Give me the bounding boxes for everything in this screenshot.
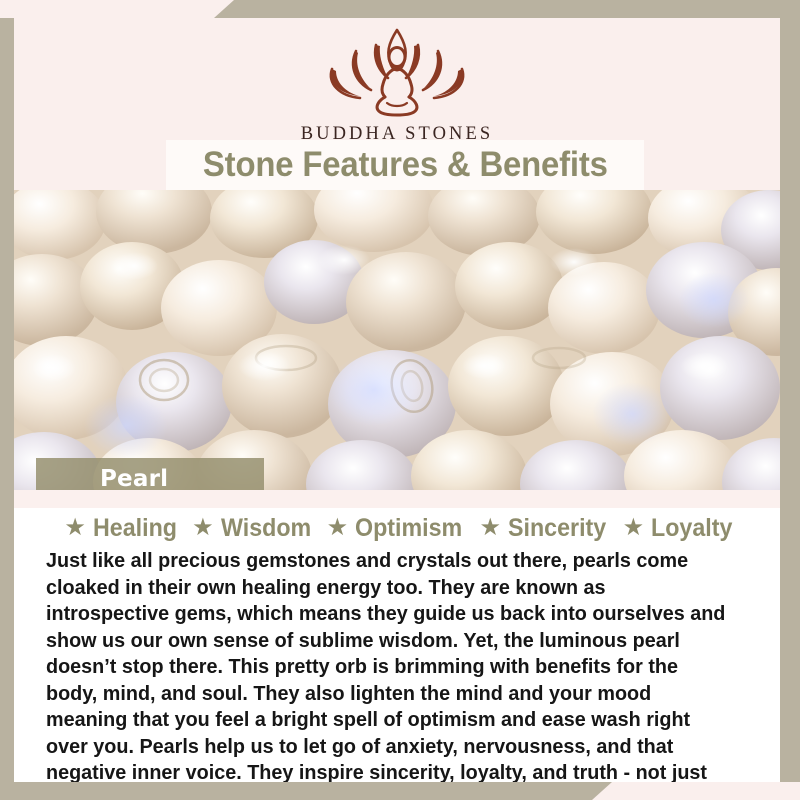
keyword-label: Loyalty: [651, 514, 732, 543]
star-icon: ★: [623, 516, 645, 540]
keyword-label: Wisdom: [221, 514, 311, 543]
brand-logo-block: BUDDHA STONES: [14, 24, 780, 145]
frame-band-bottom-left: [0, 782, 612, 800]
benefit-keywords-list: ★ Healing ★ Wisdom ★ Optimism ★ Sincerit…: [14, 514, 780, 543]
frame-band-right: [780, 0, 800, 782]
keyword-label: Healing: [93, 514, 177, 543]
infographic-page: BUDDHA STONES Stone Features & Benefits: [0, 0, 800, 800]
keyword-healing: ★ Healing: [55, 514, 183, 543]
page-sheet: BUDDHA STONES Stone Features & Benefits: [14, 18, 780, 782]
keyword-loyalty: ★ Loyalty: [614, 514, 739, 543]
keyword-wisdom: ★ Wisdom: [183, 514, 318, 543]
page-title: Stone Features & Benefits: [203, 145, 608, 185]
pearl-gemstone-photo: [14, 190, 780, 490]
lotus-meditation-figure-icon: [302, 24, 492, 120]
stone-description-text: Just like all precious gemstones and cry…: [46, 548, 731, 782]
keyword-optimism: ★ Optimism: [318, 514, 471, 543]
keyword-sincerity: ★ Sincerity: [470, 514, 613, 543]
keyword-label: Optimism: [355, 514, 462, 543]
star-icon: ★: [192, 516, 214, 540]
keyword-label: Sincerity: [508, 514, 606, 543]
star-icon: ★: [479, 516, 501, 540]
frame-band-top-right: [214, 0, 800, 18]
title-band: Stone Features & Benefits: [166, 140, 644, 190]
frame-band-left: [0, 18, 14, 800]
panel-top-tint: [14, 490, 780, 508]
stone-name-label: Pearl: [100, 466, 168, 492]
content-panel: ★ Healing ★ Wisdom ★ Optimism ★ Sincerit…: [14, 490, 780, 782]
star-icon: ★: [327, 516, 349, 540]
star-icon: ★: [64, 516, 86, 540]
